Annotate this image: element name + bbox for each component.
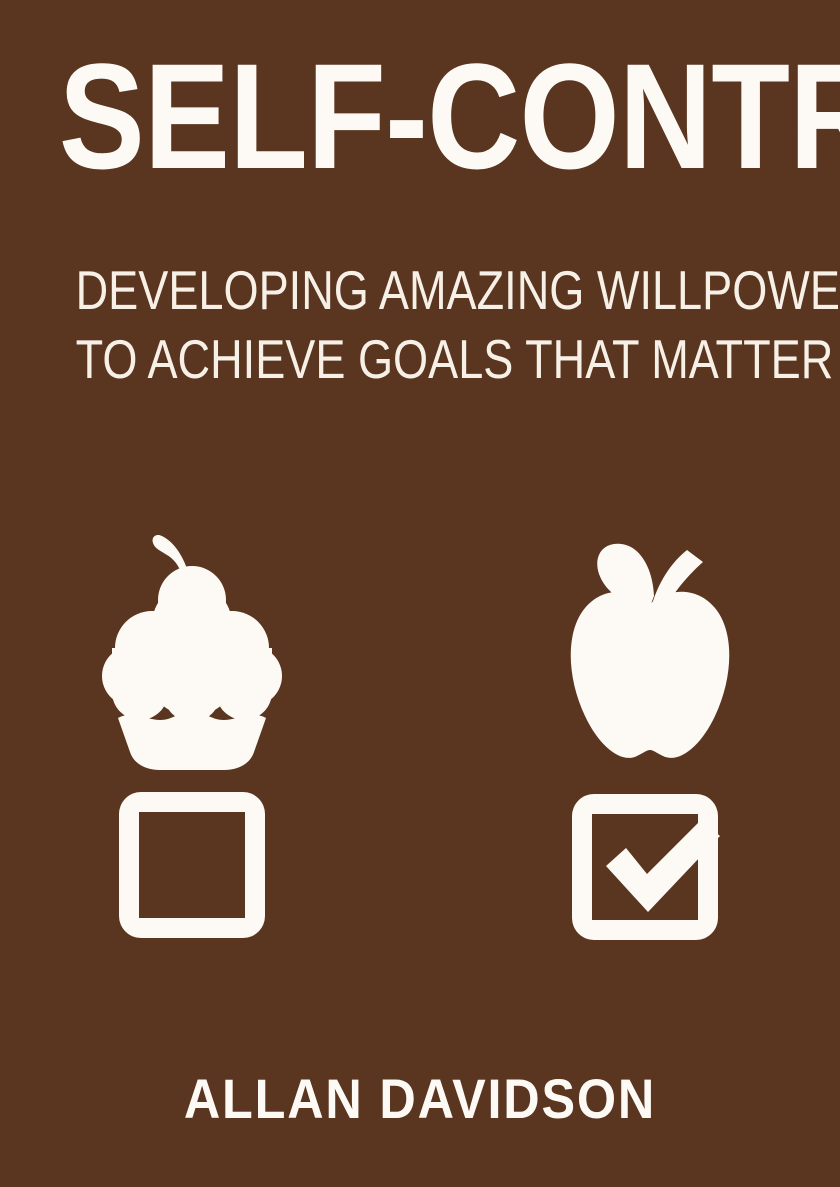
book-subtitle-line-2: TO ACHIEVE GOALS THAT MATTER [76,325,765,394]
cupcake-icon [102,520,282,770]
book-cover: SELF-CONTROL DEVELOPING AMAZING WILLPOWE… [0,0,840,1187]
left-choice-column [42,520,342,960]
book-title: SELF-CONTROL [59,42,781,190]
apple-icon [555,520,745,770]
book-author: ALLAN DAVIDSON [42,1068,798,1130]
checkbox-unchecked-icon[interactable] [117,790,267,940]
right-choice-column [500,520,800,960]
book-subtitle: DEVELOPING AMAZING WILLPOWER TO ACHIEVE … [76,256,765,394]
book-subtitle-line-1: DEVELOPING AMAZING WILLPOWER [76,256,765,325]
checkbox-checked-icon[interactable] [570,790,730,945]
icon-illustration-area [0,520,840,960]
